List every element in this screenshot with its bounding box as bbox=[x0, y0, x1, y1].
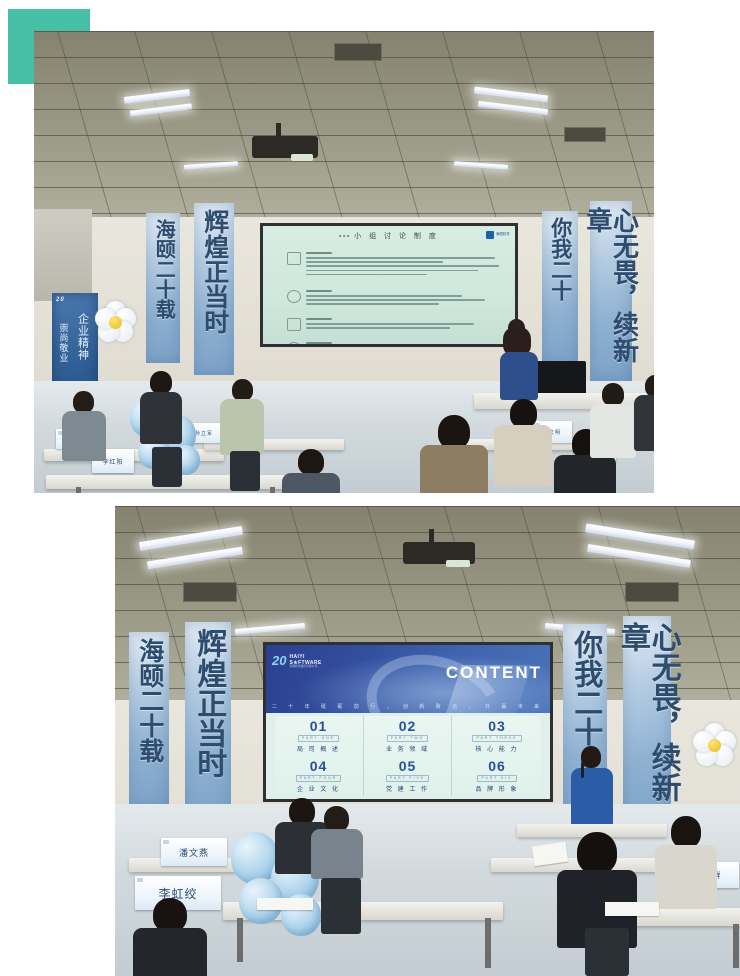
audience-head bbox=[150, 371, 172, 394]
slide-text-line bbox=[306, 257, 495, 259]
projector-lens bbox=[446, 560, 470, 567]
wall-left-panel bbox=[34, 209, 92, 301]
audience-body bbox=[655, 845, 717, 909]
banner-hui-huang-zheng-dang-shi: 辉煌正当时 bbox=[185, 622, 231, 822]
info-banner-line2: 崇尚敬业 bbox=[58, 323, 67, 363]
audience-member bbox=[311, 806, 363, 876]
slide-block bbox=[287, 290, 501, 308]
slide-text-line bbox=[306, 295, 462, 297]
chair bbox=[230, 451, 260, 491]
content-item-number: 01 bbox=[310, 719, 328, 733]
audience-head bbox=[645, 375, 654, 397]
projection-screen-surface: 小 组 讨 论 制 度 海颐软件 bbox=[263, 226, 515, 344]
projection-screen: 20 ········· HAIYI S★FTWARE 海颐软件股份有限公司 C… bbox=[263, 642, 553, 802]
desk-leg bbox=[76, 487, 81, 493]
company-logo: 20 ········· HAIYI S★FTWARE 海颐软件股份有限公司 bbox=[272, 653, 322, 669]
content-item-part: PART FOUR bbox=[296, 775, 341, 782]
chair bbox=[321, 878, 361, 934]
content-item-number: 02 bbox=[399, 719, 417, 733]
content-item-label: 业 务 领 域 bbox=[386, 744, 429, 753]
chair bbox=[585, 928, 629, 976]
audience-member bbox=[634, 375, 654, 447]
banner-text: 你我二十 bbox=[549, 217, 570, 301]
ceiling-projector bbox=[252, 136, 318, 158]
content-item-number: 06 bbox=[488, 759, 506, 773]
slide-text-line bbox=[306, 327, 450, 329]
content-item-04: 04 PART FOUR 企 业 文 化 bbox=[275, 756, 364, 796]
banner-text: 辉煌正当时 bbox=[201, 209, 227, 334]
daisy-core bbox=[708, 739, 721, 752]
logo-mark-icon bbox=[486, 231, 494, 239]
content-item-number: 04 bbox=[310, 759, 328, 773]
audience-head bbox=[577, 832, 617, 874]
desk-leg bbox=[270, 487, 275, 493]
slide-block-heading bbox=[306, 252, 332, 254]
audience-body bbox=[494, 425, 552, 487]
daisy-balloon-icon bbox=[687, 718, 740, 772]
audience-member bbox=[282, 449, 340, 493]
content-item-label: 品 牌 形 象 bbox=[475, 784, 518, 793]
audience-body bbox=[590, 404, 636, 458]
audience-body bbox=[634, 395, 654, 451]
slide-block-lines bbox=[306, 252, 501, 278]
audience-body bbox=[311, 829, 363, 879]
slide-block-lines bbox=[306, 318, 501, 331]
ceiling-vent bbox=[564, 127, 606, 142]
audience-member bbox=[420, 415, 488, 493]
document-icon bbox=[287, 342, 301, 344]
papers bbox=[605, 902, 659, 916]
placard-name: 潘文燕 bbox=[179, 846, 209, 859]
info-banner-line1: 企业精神 bbox=[76, 313, 88, 361]
banner-text: 心无畏，续新章 bbox=[584, 207, 637, 381]
slide-text-line bbox=[306, 303, 439, 305]
projection-screen: 小 组 讨 论 制 度 海颐软件 bbox=[260, 223, 518, 347]
audience-member bbox=[557, 832, 637, 942]
content-item-part: PART FIVE bbox=[386, 775, 429, 782]
document-icon bbox=[287, 252, 301, 265]
slide-title-text: 小 组 讨 论 制 度 bbox=[354, 231, 439, 241]
document-icon bbox=[287, 318, 301, 331]
slide-title: 小 组 讨 论 制 度 bbox=[339, 231, 439, 241]
slide-text-line bbox=[306, 299, 485, 301]
classroom-scene-bottom: 20 ········· HAIYI S★FTWARE 海颐软件股份有限公司 C… bbox=[115, 506, 740, 976]
banner-hai-yi-er-shi-zai: 海颐二十载 bbox=[146, 213, 180, 363]
slide-content: 20 ········· HAIYI S★FTWARE 海颐软件股份有限公司 C… bbox=[266, 645, 550, 799]
content-item-label: 局 司 概 述 bbox=[297, 744, 340, 753]
audience-head bbox=[671, 816, 701, 848]
daisy-core bbox=[109, 316, 122, 329]
content-item-label: 党 建 工 作 bbox=[386, 784, 429, 793]
daisy-balloon-icon bbox=[92, 299, 138, 345]
banner-xin-wu-wei-xu-xin-zhang: 心无畏，续新章 bbox=[623, 616, 671, 830]
ceiling-vent bbox=[625, 582, 679, 602]
slide-text-line bbox=[306, 265, 499, 267]
banner-text: 海颐二十载 bbox=[153, 219, 173, 319]
audience-member bbox=[655, 816, 717, 904]
logo-cn: 海颐软件股份有限公司 bbox=[289, 666, 321, 669]
anniversary-20-icon: 20 bbox=[272, 654, 286, 667]
name-placard: 潘文燕 bbox=[161, 838, 227, 866]
audience-body bbox=[554, 455, 616, 493]
content-item-02: 02 PART TWO 业 务 领 域 bbox=[364, 716, 453, 756]
banner-hui-huang-zheng-dang-shi: 辉煌正当时 bbox=[194, 203, 234, 375]
slide-text-line bbox=[306, 270, 478, 272]
desk-leg bbox=[485, 918, 491, 968]
ceiling bbox=[34, 31, 654, 219]
banner-text: 你我二十 bbox=[570, 630, 600, 746]
audience-body bbox=[420, 445, 488, 493]
placard-name: 孙立军 bbox=[195, 430, 213, 437]
audience-body bbox=[220, 399, 264, 455]
slide-header: 20 ········· HAIYI S★FTWARE 海颐软件股份有限公司 C… bbox=[266, 645, 550, 713]
slide-logo-text: 海颐软件 bbox=[496, 233, 510, 237]
banner-text: 辉煌正当时 bbox=[193, 628, 224, 778]
presenter-head bbox=[581, 746, 601, 768]
content-item-06: 06 PART SIX 品 牌 形 象 bbox=[452, 756, 541, 796]
content-item-01: 01 PART ONE 局 司 概 述 bbox=[275, 716, 364, 756]
company-logo-text: ········· HAIYI S★FTWARE 海颐软件股份有限公司 bbox=[289, 653, 321, 669]
audience-member bbox=[494, 399, 552, 493]
audience-member bbox=[220, 379, 264, 453]
slide-heading: CONTENT bbox=[446, 663, 542, 683]
content-item-part: PART ONE bbox=[298, 735, 339, 742]
slide-document: 小 组 讨 论 制 度 海颐软件 bbox=[263, 226, 515, 344]
ceiling-vent bbox=[183, 582, 237, 602]
content-item-05: 05 PART FIVE 党 建 工 作 bbox=[364, 756, 453, 796]
audience-head bbox=[153, 898, 187, 932]
slide-block-heading bbox=[306, 290, 332, 292]
content-item-part: PART SIX bbox=[477, 775, 516, 782]
anniversary-logo-icon: 20 bbox=[56, 297, 65, 303]
content-item-part: PART THREE bbox=[472, 735, 521, 742]
audience-head bbox=[438, 415, 470, 449]
audience-head bbox=[602, 383, 624, 406]
projector-lens bbox=[291, 154, 313, 161]
content-item-label: 企 业 文 化 bbox=[297, 784, 340, 793]
banner-text: 海颐二十载 bbox=[136, 638, 162, 763]
content-item-part: PART TWO bbox=[387, 735, 428, 742]
slide-block-heading bbox=[306, 318, 332, 320]
banner-text: 心无畏，续新章 bbox=[616, 622, 677, 830]
banner-hai-yi-er-shi-zai: 海颐二十载 bbox=[129, 632, 169, 808]
slide-text-line bbox=[306, 261, 443, 263]
presenter-body bbox=[500, 352, 538, 400]
audience-body bbox=[140, 392, 182, 444]
slide-block bbox=[287, 342, 501, 344]
microphone bbox=[581, 762, 584, 778]
audience-member bbox=[140, 371, 182, 443]
photo-bottom: 20 ········· HAIYI S★FTWARE 海颐软件股份有限公司 C… bbox=[115, 506, 740, 976]
slide-block-heading bbox=[306, 342, 332, 344]
content-item-number: 03 bbox=[488, 719, 506, 733]
content-grid: 01 PART ONE 局 司 概 述 02 PART TWO 业 务 领 域 … bbox=[275, 716, 542, 796]
projection-screen-surface: 20 ········· HAIYI S★FTWARE 海颐软件股份有限公司 C… bbox=[266, 645, 550, 799]
slide-logo: 海颐软件 bbox=[486, 231, 510, 239]
banner-xin-wu-wei-xu-xin-zhang: 心无畏，续新章 bbox=[590, 201, 632, 381]
audience-head bbox=[298, 449, 324, 475]
papers bbox=[257, 898, 313, 910]
slide-block-lines bbox=[306, 290, 501, 308]
audience-member bbox=[590, 383, 636, 453]
audience-body bbox=[133, 928, 207, 976]
audience-body bbox=[282, 473, 340, 493]
presenter bbox=[494, 319, 542, 405]
audience-head bbox=[73, 391, 94, 413]
classroom-scene-top: 小 组 讨 论 制 度 海颐软件 bbox=[34, 31, 654, 493]
content-item-number: 05 bbox=[399, 759, 417, 773]
slide-subtitle: 二 十 年 砥 砺 前 行 ， 创 新 致 远 ， 共 赢 未 来 bbox=[266, 703, 550, 710]
slide-block-lines bbox=[306, 342, 501, 344]
photo-top: 小 组 讨 论 制 度 海颐软件 bbox=[34, 31, 654, 493]
slide-title-dots bbox=[339, 235, 349, 237]
presenter-body bbox=[571, 768, 613, 826]
desk-leg bbox=[733, 924, 739, 968]
slide-text-line bbox=[306, 323, 474, 325]
audience-head bbox=[232, 379, 253, 401]
slide-block bbox=[287, 318, 501, 331]
document-icon bbox=[287, 290, 301, 303]
audience-member bbox=[62, 391, 106, 461]
desk-leg bbox=[237, 918, 243, 962]
content-item-03: 03 PART THREE 核 心 能 力 bbox=[452, 716, 541, 756]
content-item-label: 核 心 能 力 bbox=[475, 744, 518, 753]
audience-member bbox=[133, 898, 207, 976]
ceiling-projector bbox=[403, 542, 475, 564]
slide-block bbox=[287, 252, 501, 278]
chair bbox=[152, 447, 182, 487]
audience-body bbox=[62, 411, 106, 461]
banner-ni-wo-er-shi: 你我二十 bbox=[542, 211, 578, 365]
slide-text-line bbox=[306, 274, 427, 276]
ceiling-vent bbox=[334, 43, 382, 61]
